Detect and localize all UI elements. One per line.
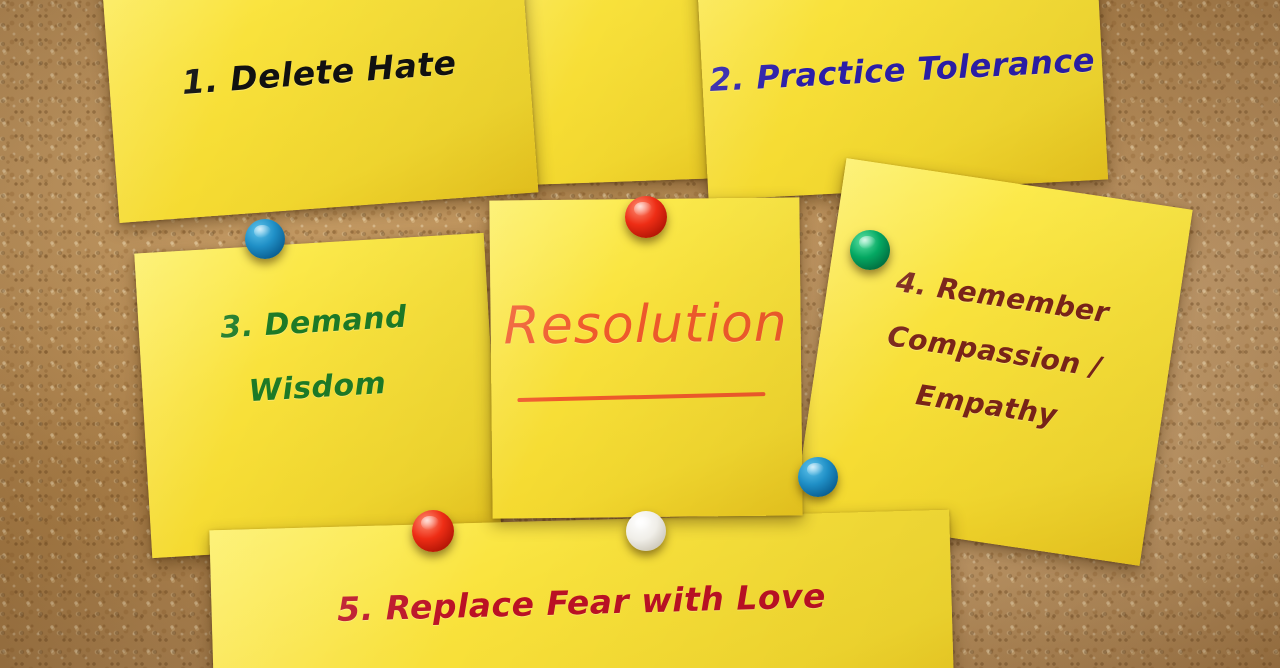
- pushpin-green-icon[interactable]: [850, 230, 890, 270]
- pushpin-blue-icon[interactable]: [245, 219, 285, 259]
- sticky-note-1[interactable]: 1. Delete Hate: [98, 0, 539, 223]
- sticky-note-4[interactable]: 4. Remember Compassion / Empathy: [793, 158, 1192, 566]
- sticky-note-1-text: 1. Delete Hate: [108, 35, 530, 112]
- resolution-underline: [517, 392, 765, 402]
- pushpin-blue-2-icon[interactable]: [798, 457, 838, 497]
- pushpin-highlight: [635, 517, 652, 531]
- sticky-note-3[interactable]: 3. Demand Wisdom: [134, 233, 501, 558]
- resolution-title: Resolution: [490, 287, 801, 364]
- sticky-note-5[interactable]: 5. Replace Fear with Love: [209, 510, 954, 668]
- cork-board: 2. Practice Tolerance 1. Delete Hate 3. …: [0, 0, 1280, 668]
- sticky-note-3-text: 3. Demand Wisdom: [137, 281, 494, 431]
- pushpin-highlight: [859, 236, 876, 250]
- sticky-note-resolution[interactable]: Resolution: [489, 197, 802, 518]
- pushpin-white-icon[interactable]: [626, 511, 666, 551]
- sticky-note-2-text: 2. Practice Tolerance: [701, 38, 1103, 104]
- pushpin-highlight: [634, 202, 652, 216]
- pushpin-highlight: [807, 463, 824, 477]
- pushpin-red-icon[interactable]: [625, 196, 667, 238]
- sticky-note-5-text: 5. Replace Fear with Love: [211, 570, 952, 638]
- pushpin-highlight: [254, 225, 271, 239]
- pushpin-red-2-icon[interactable]: [412, 510, 454, 552]
- pushpin-highlight: [421, 516, 439, 530]
- sticky-note-4-text: 4. Remember Compassion / Empathy: [809, 245, 1179, 459]
